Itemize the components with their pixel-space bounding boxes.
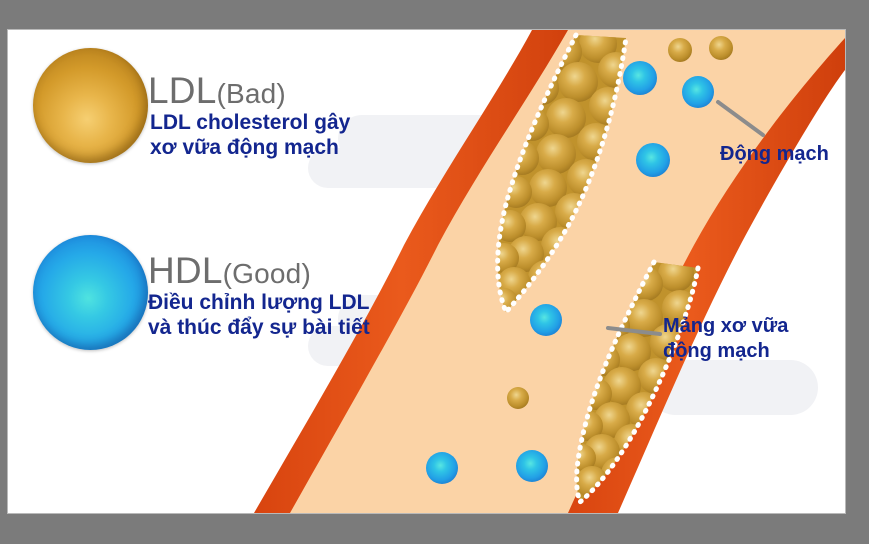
hdl-heading-qualifier: (Good) bbox=[223, 258, 311, 289]
ldl-particle bbox=[709, 36, 733, 60]
ldl-particle bbox=[668, 38, 692, 62]
hdl-description-line: Điều chỉnh lượng LDL bbox=[148, 290, 370, 315]
hdl-description-line: và thúc đẩy sự bài tiết bbox=[148, 315, 370, 340]
hdl-particle bbox=[530, 304, 562, 336]
hdl-heading: HDL(Good) bbox=[148, 250, 311, 292]
ldl-description-line: xơ vữa động mạch bbox=[150, 135, 350, 160]
plaque-callout-line: động mạch bbox=[663, 339, 788, 364]
ldl-heading-qualifier: (Bad) bbox=[216, 78, 285, 109]
plaque-callout-line: Mảng xơ vữa bbox=[663, 314, 788, 339]
hdl-sphere bbox=[33, 235, 148, 350]
hdl-particle bbox=[636, 143, 670, 177]
ldl-heading-main: LDL bbox=[148, 70, 216, 111]
artery-callout-line: Động mạch bbox=[720, 142, 829, 167]
figure-root: LDL(Bad) LDL cholesterol gây xơ vữa động… bbox=[0, 0, 869, 544]
ldl-heading: LDL(Bad) bbox=[148, 70, 286, 112]
hdl-particle bbox=[682, 76, 714, 108]
hdl-particle bbox=[426, 452, 458, 484]
illustration-panel: LDL(Bad) LDL cholesterol gây xơ vữa động… bbox=[8, 30, 845, 513]
artery-callout-label: Động mạch bbox=[720, 142, 829, 167]
hdl-description: Điều chỉnh lượng LDL và thúc đẩy sự bài … bbox=[148, 290, 370, 340]
plaque-callout-label: Mảng xơ vữa động mạch bbox=[663, 314, 788, 364]
hdl-particle bbox=[623, 61, 657, 95]
ldl-sphere bbox=[33, 48, 148, 163]
ldl-description: LDL cholesterol gây xơ vữa động mạch bbox=[150, 110, 350, 160]
hdl-particle bbox=[516, 450, 548, 482]
ldl-particle bbox=[507, 387, 529, 409]
hdl-heading-main: HDL bbox=[148, 250, 223, 291]
ldl-description-line: LDL cholesterol gây bbox=[150, 110, 350, 135]
